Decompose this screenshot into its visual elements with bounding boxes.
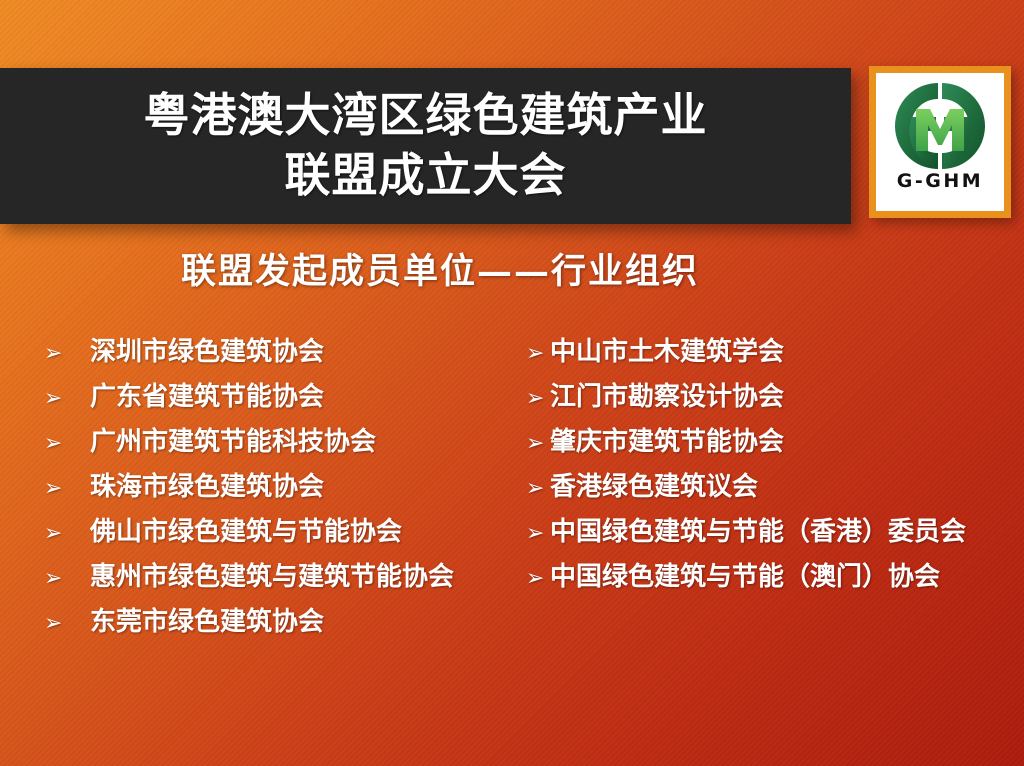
list-item-label: 深圳市绿色建筑协会 xyxy=(90,330,324,375)
arrow-bullet-icon: ➢ xyxy=(44,421,90,466)
g-ghm-green-circle-logo-icon xyxy=(890,77,990,175)
page-title: 粤港澳大湾区绿色建筑产业 联盟成立大会 xyxy=(126,86,726,206)
list-item-label: 东莞市绿色建筑协会 xyxy=(90,600,324,645)
arrow-bullet-icon: ➢ xyxy=(526,421,550,466)
list-item: ➢ 广州市建筑节能科技协会 xyxy=(44,420,514,465)
list-item: ➢ 肇庆市建筑节能协会 xyxy=(526,420,1024,465)
list-item-label: 肇庆市建筑节能协会 xyxy=(550,420,784,465)
list-item: ➢ 深圳市绿色建筑协会 xyxy=(44,330,514,375)
arrow-bullet-icon: ➢ xyxy=(526,331,550,376)
list-item-label: 中山市土木建筑学会 xyxy=(550,330,784,375)
list-item: ➢ 中山市土木建筑学会 xyxy=(526,330,1024,375)
list-item-label: 中国绿色建筑与节能（澳门）协会 xyxy=(550,555,940,600)
arrow-bullet-icon: ➢ xyxy=(44,376,90,421)
list-item-label: 广州市建筑节能科技协会 xyxy=(90,420,376,465)
presentation-slide: 粤港澳大湾区绿色建筑产业 联盟成立大会 xyxy=(0,0,1024,766)
list-item: ➢ 佛山市绿色建筑与节能协会 xyxy=(44,510,514,555)
logo-wordmark: G-GHM xyxy=(897,172,983,191)
list-item: ➢ 惠州市绿色建筑与建筑节能协会 xyxy=(44,555,514,600)
logo-inner: G-GHM xyxy=(876,73,1004,211)
list-item-label: 广东省建筑节能协会 xyxy=(90,375,324,420)
member-list-right: ➢ 中山市土木建筑学会 ➢ 江门市勘察设计协会 ➢ 肇庆市建筑节能协会 ➢ 香港… xyxy=(526,330,1024,600)
list-item-label: 惠州市绿色建筑与建筑节能协会 xyxy=(90,555,454,600)
arrow-bullet-icon: ➢ xyxy=(44,556,90,601)
arrow-bullet-icon: ➢ xyxy=(526,556,550,601)
list-item: ➢ 广东省建筑节能协会 xyxy=(44,375,514,420)
list-item-label: 佛山市绿色建筑与节能协会 xyxy=(90,510,402,555)
list-item-label: 珠海市绿色建筑协会 xyxy=(90,465,324,510)
arrow-bullet-icon: ➢ xyxy=(44,331,90,376)
title-bar: 粤港澳大湾区绿色建筑产业 联盟成立大会 xyxy=(0,68,851,224)
slide-subtitle: 联盟发起成员单位——行业组织 xyxy=(0,243,880,294)
arrow-bullet-icon: ➢ xyxy=(44,601,90,646)
list-item: ➢ 江门市勘察设计协会 xyxy=(526,375,1024,420)
arrow-bullet-icon: ➢ xyxy=(526,511,550,556)
list-item: ➢ 香港绿色建筑议会 xyxy=(526,465,1024,510)
arrow-bullet-icon: ➢ xyxy=(44,511,90,556)
list-item: ➢ 珠海市绿色建筑协会 xyxy=(44,465,514,510)
logo-badge: G-GHM xyxy=(869,66,1011,218)
list-item: ➢ 中国绿色建筑与节能（香港）委员会 xyxy=(526,510,1024,555)
arrow-bullet-icon: ➢ xyxy=(44,466,90,511)
list-item: ➢ 东莞市绿色建筑协会 xyxy=(44,600,514,645)
arrow-bullet-icon: ➢ xyxy=(526,466,550,511)
list-item-label: 香港绿色建筑议会 xyxy=(550,465,758,510)
member-list-left: ➢ 深圳市绿色建筑协会 ➢ 广东省建筑节能协会 ➢ 广州市建筑节能科技协会 ➢ … xyxy=(44,330,514,645)
list-item-label: 江门市勘察设计协会 xyxy=(550,375,784,420)
list-item: ➢ 中国绿色建筑与节能（澳门）协会 xyxy=(526,555,1024,600)
arrow-bullet-icon: ➢ xyxy=(526,376,550,421)
list-item-label: 中国绿色建筑与节能（香港）委员会 xyxy=(550,510,966,555)
